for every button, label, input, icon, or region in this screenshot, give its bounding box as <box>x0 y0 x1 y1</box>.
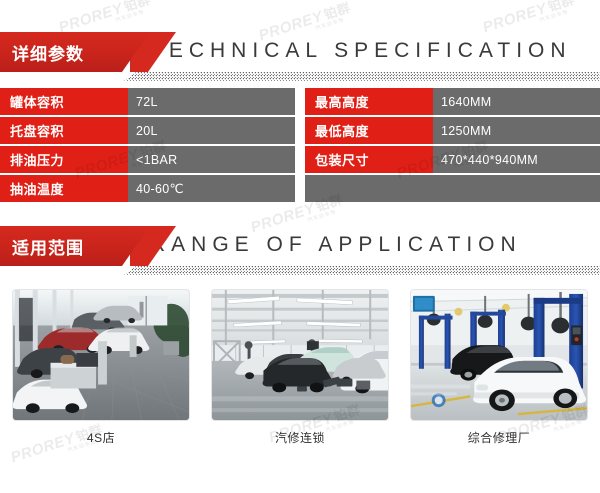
range-of-application-section: 适用范围 RANGE OF APPLICATION <box>0 226 600 276</box>
table-row: 罐体容积 72L 最高高度 1640MM <box>0 88 600 115</box>
watermark-cn-brand: 铂群 <box>122 0 152 14</box>
spec-value-empty <box>433 175 600 202</box>
spec-value: 1250MM <box>433 117 600 144</box>
table-row-right-pair <box>305 175 600 202</box>
product-spec-page: PROREY铂群汽车后市场 PROREY铂群汽车后市场 PROREY铂群汽车后市… <box>0 0 600 493</box>
application-caption: 汽修连锁 <box>211 429 389 446</box>
hatched-divider <box>124 266 600 275</box>
technical-specification-section: 详细参数 TECHNICAL SPECIFICATION <box>0 32 600 82</box>
spec-value: 20L <box>128 117 295 144</box>
watermark-cn-sub: 汽车后市场 <box>539 7 578 24</box>
column-gap <box>295 146 305 173</box>
spec-value: 72L <box>128 88 295 115</box>
spec-label: 最高高度 <box>305 88 433 115</box>
watermark-cn-sub: 汽车后市场 <box>307 207 346 224</box>
application-caption: 综合修理厂 <box>410 429 588 446</box>
hatched-divider <box>124 72 600 81</box>
section-tag-application: 适用范围 <box>0 226 150 266</box>
application-caption: 4S店 <box>12 429 190 446</box>
watermark-cn-sub: 汽车后市场 <box>315 15 354 32</box>
spec-value: 1640MM <box>433 88 600 115</box>
application-card: 4S店 <box>12 289 190 446</box>
section-en-title-application: RANGE OF APPLICATION <box>150 228 590 262</box>
table-row-left-pair: 抽油温度 40-60℃ <box>0 175 295 202</box>
table-row-right-pair: 最低高度 1250MM <box>305 117 600 144</box>
watermark-cn-brand: 铂群 <box>322 0 352 22</box>
section-header-application: 适用范围 RANGE OF APPLICATION <box>0 226 600 276</box>
application-card: 综合修理厂 <box>410 289 588 446</box>
table-row-left-pair: 托盘容积 20L <box>0 117 295 144</box>
table-row: 托盘容积 20L 最低高度 1250MM <box>0 117 600 144</box>
spec-table: 罐体容积 72L 最高高度 1640MM 托盘容积 20L 最低高度 1250M… <box>0 88 600 204</box>
table-row: 抽油温度 40-60℃ <box>0 175 600 202</box>
table-row: 排油压力 <1BAR 包装尺寸 470*440*940MM <box>0 146 600 173</box>
application-gallery: 4S店 <box>0 289 600 446</box>
spec-label: 包装尺寸 <box>305 146 433 173</box>
spec-value: <1BAR <box>128 146 295 173</box>
spec-label: 最低高度 <box>305 117 433 144</box>
spec-value: 470*440*940MM <box>433 146 600 173</box>
spec-label-empty <box>305 175 433 202</box>
spec-label: 抽油温度 <box>0 175 128 202</box>
column-gap <box>295 175 305 202</box>
table-row-right-pair: 包装尺寸 470*440*940MM <box>305 146 600 173</box>
car-dealership-showroom-photo <box>12 289 190 421</box>
section-en-title-technical: TECHNICAL SPECIFICATION <box>150 34 590 68</box>
watermark-cn-brand: 铂群 <box>546 0 576 14</box>
watermark-brand: PROREY <box>57 0 125 36</box>
spec-label: 排油压力 <box>0 146 128 173</box>
section-tag-technical: 详细参数 <box>0 32 150 72</box>
spec-value: 40-60℃ <box>128 175 295 202</box>
spec-label: 托盘容积 <box>0 117 128 144</box>
general-repair-garage-lifts-photo <box>410 289 588 421</box>
auto-repair-chain-workshop-photo <box>211 289 389 421</box>
watermark-brand: PROREY <box>481 0 549 36</box>
column-gap <box>295 117 305 144</box>
column-gap <box>295 88 305 115</box>
watermark-cn-sub: 汽车后市场 <box>115 7 154 24</box>
table-row-right-pair: 最高高度 1640MM <box>305 88 600 115</box>
spec-label: 罐体容积 <box>0 88 128 115</box>
application-card: 汽修连锁 <box>211 289 389 446</box>
table-row-left-pair: 排油压力 <1BAR <box>0 146 295 173</box>
section-header-technical: 详细参数 TECHNICAL SPECIFICATION <box>0 32 600 82</box>
table-row-left-pair: 罐体容积 72L <box>0 88 295 115</box>
